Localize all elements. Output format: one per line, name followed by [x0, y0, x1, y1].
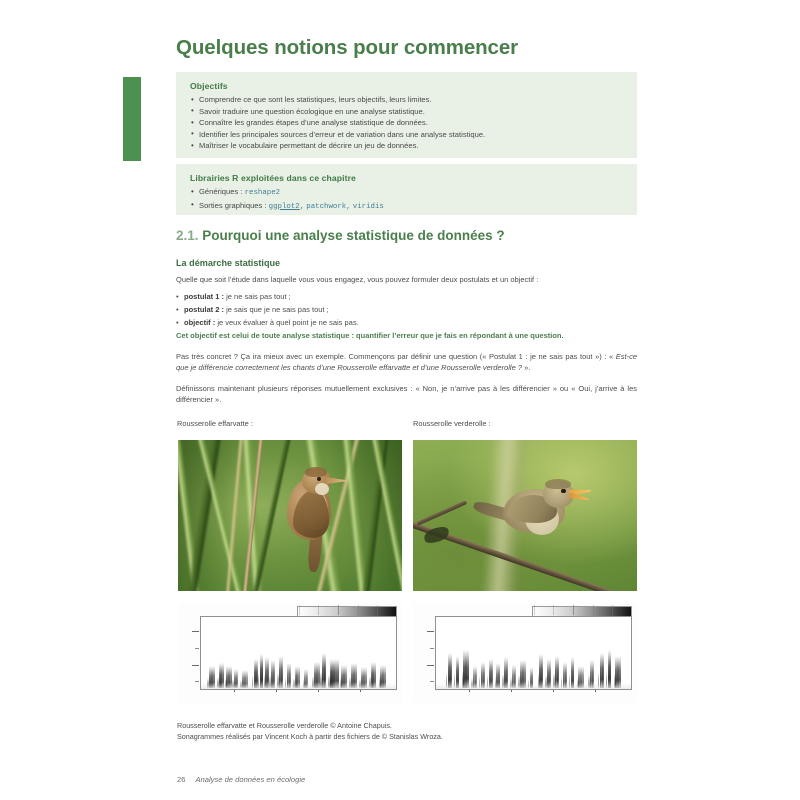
section-heading: 2.1. Pourquoi une analyse statistique de… — [176, 228, 646, 243]
bird-crown — [545, 479, 571, 489]
y-axis-tick — [427, 631, 434, 632]
sonagram-plot-area — [200, 616, 397, 690]
bullet-rest: je sais que je ne sais pas tout ; — [224, 305, 329, 314]
chapter-accent-bar — [123, 77, 141, 161]
objectives-list: Comprendre ce que sont les statistiques,… — [190, 94, 623, 152]
list-item: Identifier les principales sources d’err… — [190, 129, 623, 141]
bullet-strong: objectif : — [184, 318, 215, 327]
generic-label: Génériques : — [199, 187, 242, 196]
y-axis-tick-minor — [195, 681, 199, 682]
photo-credit: Rousserolle effarvatte et Rousserolle ve… — [177, 720, 392, 731]
list-item: Sorties graphiques : ggplot2, patchwork,… — [190, 200, 623, 214]
list-item: postulat 1 : je ne sais pas tout ; — [176, 290, 637, 303]
page-title: Quelques notions pour commencer — [176, 36, 646, 60]
objective-highlight: Cet objectif est celui de toute analyse … — [176, 330, 637, 341]
y-axis-tick — [427, 665, 434, 666]
bird-eye — [561, 489, 566, 494]
list-item: Génériques : reshape2 — [190, 186, 623, 200]
sonagram-verderolle: Rousserolle verderolle – sonagramme — [413, 603, 637, 703]
list-item: Maîtriser le vocabulaire permettant de d… — [190, 140, 623, 152]
photo-rousserolle-effarvatte — [178, 440, 402, 591]
postulats-list: postulat 1 : je ne sais pas tout ; postu… — [176, 290, 637, 330]
document-page: Quelques notions pour commencer Objectif… — [0, 0, 800, 800]
libraries-box: Librairies R exploitées dans ce chapitre… — [176, 164, 637, 215]
bird-marsh-warbler — [489, 475, 597, 561]
graphics-label: Sorties graphiques : — [199, 201, 267, 210]
figure-caption-left: Rousserolle effarvatte : — [177, 419, 253, 428]
intro-paragraph: Quelle que soit l’étude dans laquelle vo… — [176, 274, 637, 285]
package-ggplot2: ggplot2 — [269, 203, 300, 211]
libraries-list: Génériques : reshape2 Sorties graphiques… — [190, 186, 623, 213]
list-item: postulat 2 : je sais que je ne sais pas … — [176, 303, 637, 316]
bird-reed-warbler — [281, 464, 347, 572]
figure-caption-right: Rousserolle verderolle : — [413, 419, 491, 428]
libraries-heading: Librairies R exploitées dans ce chapitre — [190, 173, 623, 183]
list-item: objectif : je veux évaluer à quel point … — [176, 316, 637, 329]
package-reshape2: reshape2 — [245, 189, 280, 197]
objectives-box: Objectifs Comprendre ce que sont les sta… — [176, 72, 637, 158]
list-item: Connaître les grandes étapes d’une analy… — [190, 117, 623, 129]
section-number: 2.1. — [176, 228, 199, 243]
bullet-strong: postulat 2 : — [184, 305, 224, 314]
list-item: Savoir traduire une question écologique … — [190, 106, 623, 118]
y-axis-tick-minor — [430, 648, 434, 649]
example-text-b: ». — [522, 363, 530, 372]
sonagram-effarvatte: Rousserolle effarvatte – sonagramme — [178, 603, 402, 703]
spectrogram-noise-floor — [436, 683, 631, 689]
sonagram-colorbar-ticks — [534, 605, 632, 615]
list-item: Comprendre ce que sont les statistiques,… — [190, 94, 623, 106]
example-text-a: Pas très concret ? Ça ira mieux avec un … — [176, 352, 616, 361]
y-axis-tick — [192, 665, 199, 666]
definitions-paragraph: Définissons maintenant plusieurs réponse… — [176, 383, 637, 406]
y-axis-tick — [192, 631, 199, 632]
photo-rousserolle-verderolle — [413, 440, 637, 591]
y-axis-tick-minor — [195, 648, 199, 649]
page-footer: 26Analyse de données en écologie — [177, 775, 305, 784]
objectives-heading: Objectifs — [190, 81, 623, 91]
sonagram-colorbar-ticks — [299, 605, 397, 615]
bullet-rest: je veux évaluer à quel point je ne sais … — [215, 318, 358, 327]
bullet-rest: je ne sais pas tout ; — [224, 292, 291, 301]
book-title: Analyse de données en écologie — [195, 775, 305, 784]
spectrogram-noise-floor — [201, 683, 396, 689]
bird-beak — [326, 477, 346, 484]
example-paragraph: Pas très concret ? Ça ira mieux avec un … — [176, 351, 637, 374]
bullet-strong: postulat 1 : — [184, 292, 224, 301]
section-title: Pourquoi une analyse statistique de donn… — [202, 228, 504, 243]
subsection-heading: La démarche statistique — [176, 258, 280, 268]
sonagram-plot-area — [435, 616, 632, 690]
bird-crown — [305, 467, 327, 477]
sonagram-credit: Sonagrammes réalisés par Vincent Koch à … — [177, 731, 443, 742]
package-patchwork: patchwork — [306, 203, 346, 211]
y-axis-tick-minor — [430, 681, 434, 682]
page-number: 26 — [177, 775, 185, 784]
package-viridis: viridis — [353, 203, 384, 211]
